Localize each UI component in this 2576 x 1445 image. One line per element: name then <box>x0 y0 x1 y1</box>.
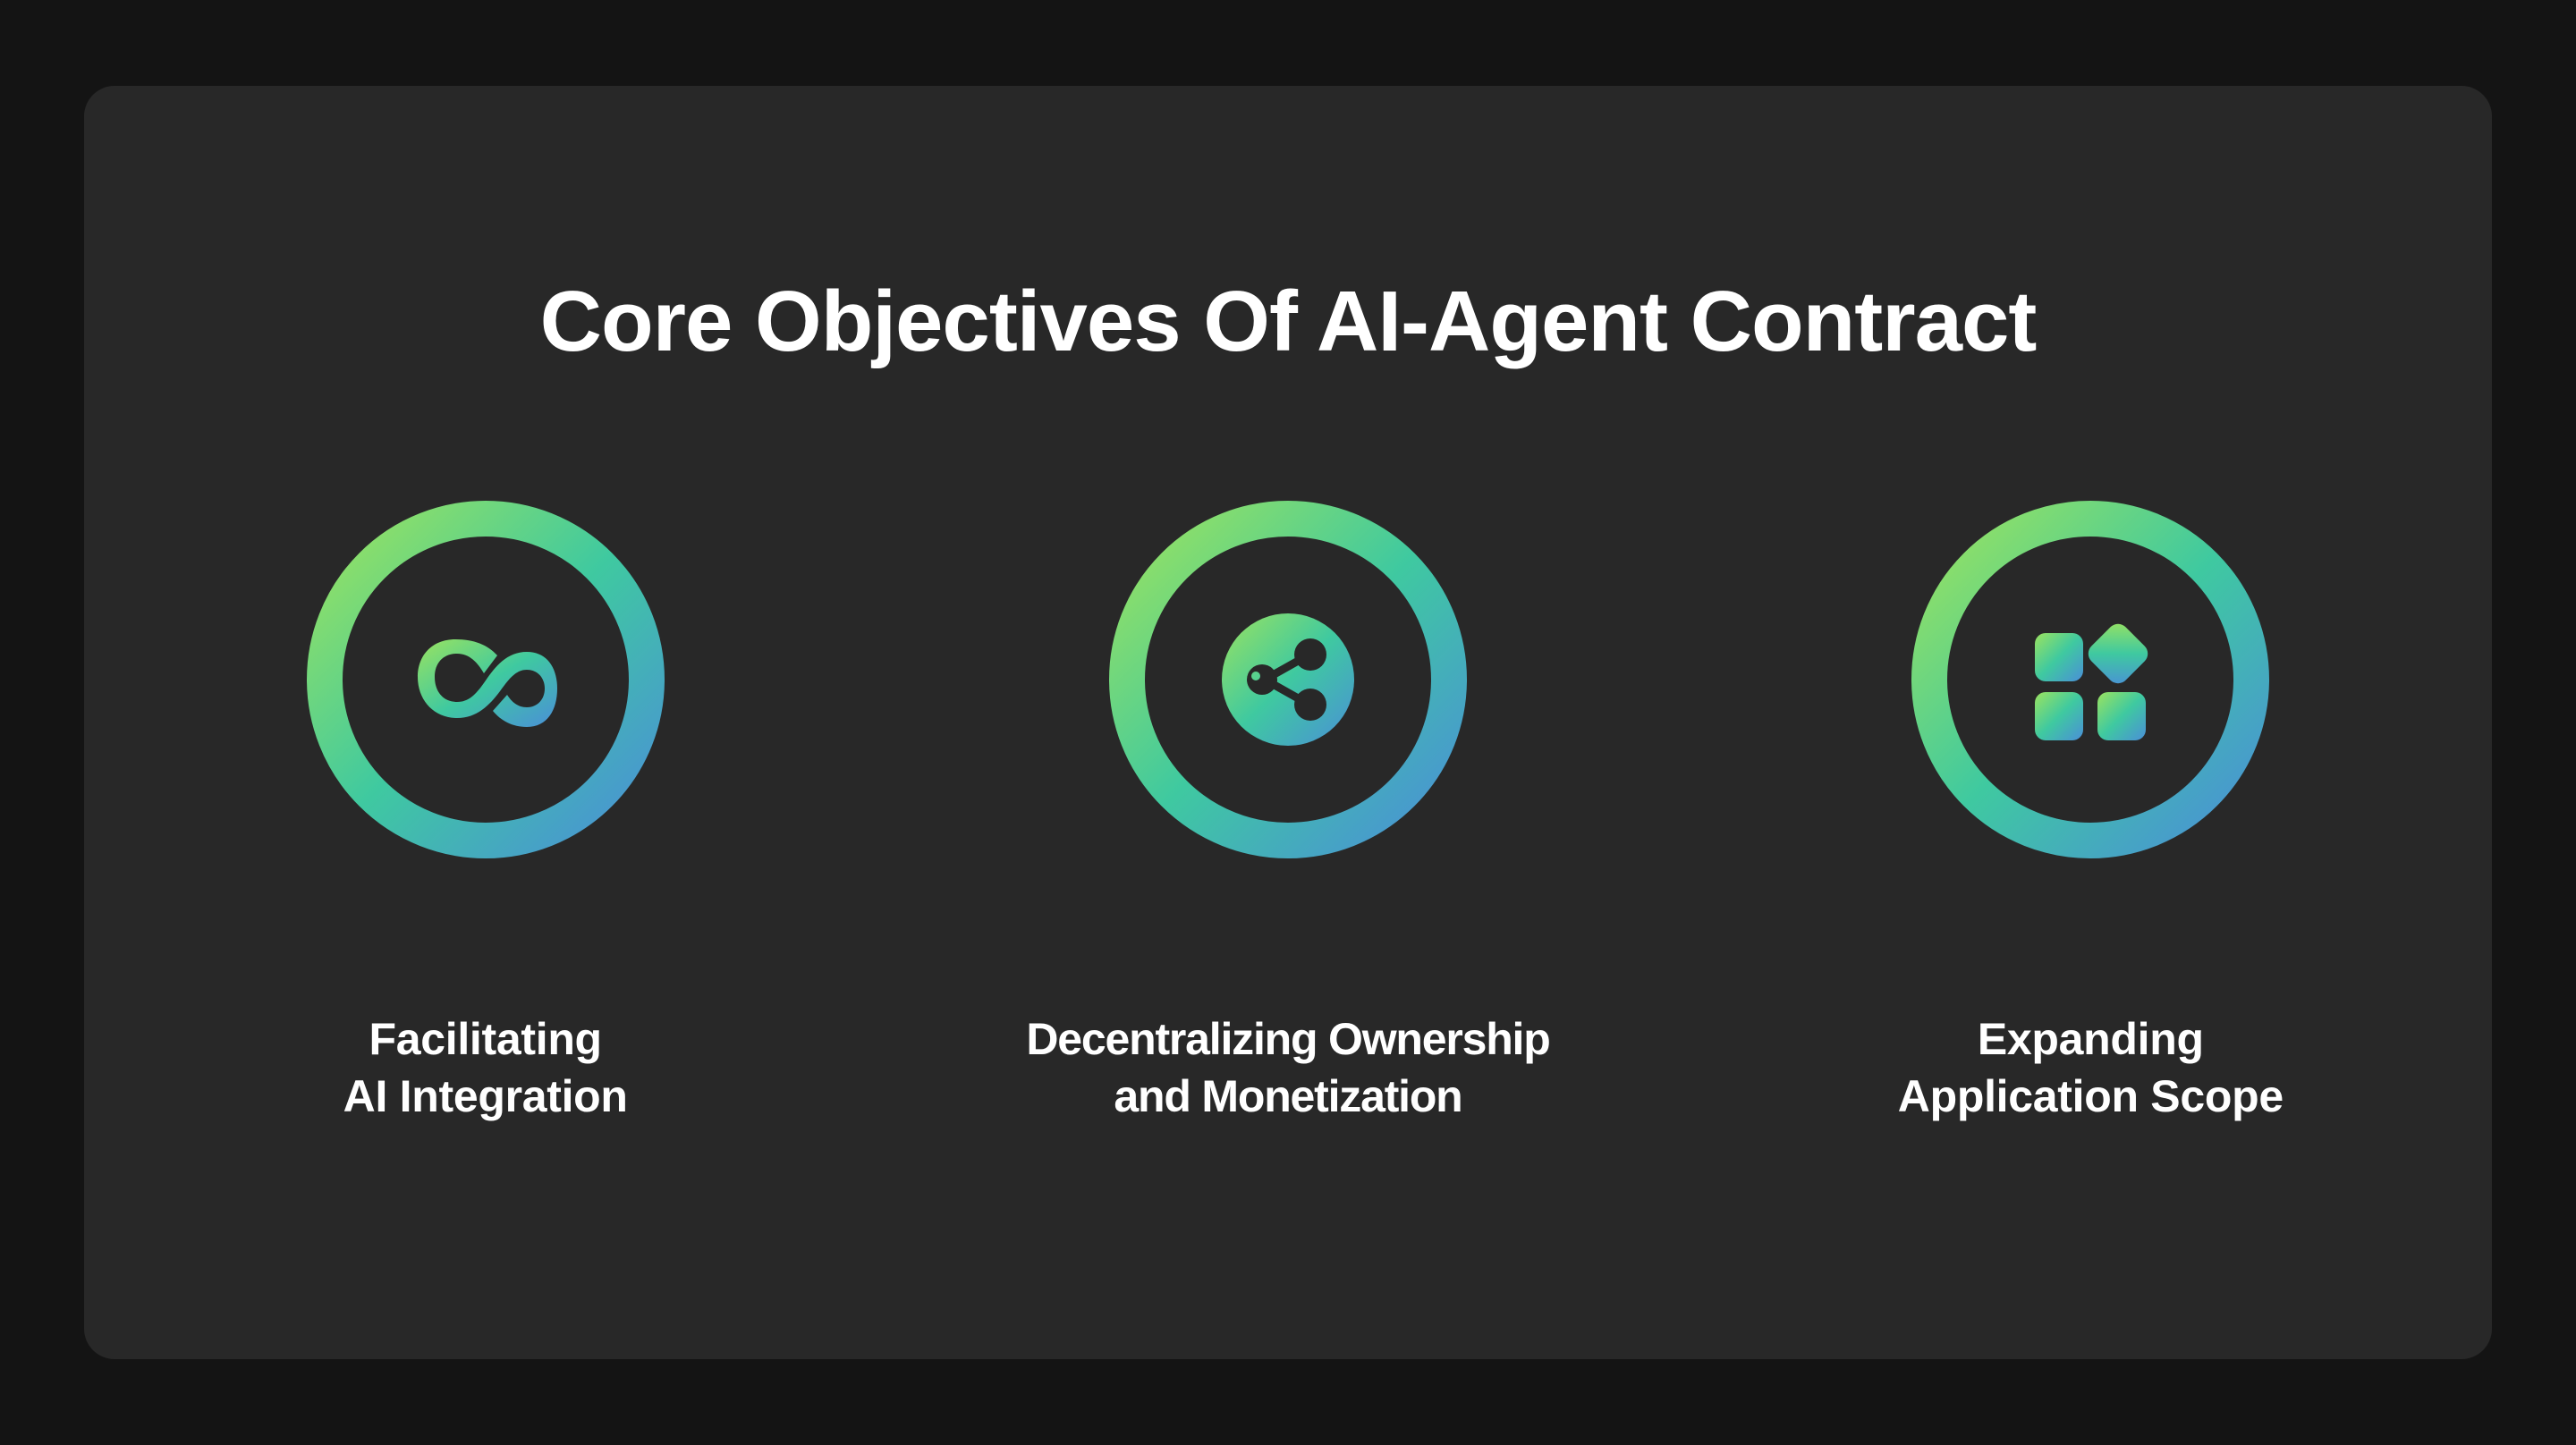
objective-item-1: Facilitating AI Integration <box>146 501 826 1125</box>
page-title: Core Objectives Of AI-Agent Contract <box>0 277 2576 368</box>
connector-line-2 <box>1286 862 1290 969</box>
infinity-loop-icon <box>396 590 575 769</box>
objective-label-2: Decentralizing Ownership and Monetizatio… <box>1026 1010 1549 1125</box>
objectives-row: Facilitating AI Integration <box>84 501 2492 1145</box>
objective-label-1: Facilitating AI Integration <box>343 1010 628 1125</box>
icon-ring-2 <box>1109 501 1467 858</box>
objective-label-3: Expanding Application Scope <box>1898 1010 2284 1125</box>
app-modules-grid-icon <box>2001 590 2180 769</box>
connector-line-1 <box>484 862 487 969</box>
share-network-icon <box>1199 590 1377 769</box>
objective-item-2: Decentralizing Ownership and Monetizatio… <box>948 501 1628 1125</box>
objective-item-3: Expanding Application Scope <box>1750 501 2430 1125</box>
icon-ring-3 <box>1911 501 2269 858</box>
icon-ring-1 <box>307 501 665 858</box>
infographic-canvas: Core Objectives Of AI-Agent Contract <box>0 0 2576 1445</box>
connector-line-3 <box>2089 862 2092 969</box>
